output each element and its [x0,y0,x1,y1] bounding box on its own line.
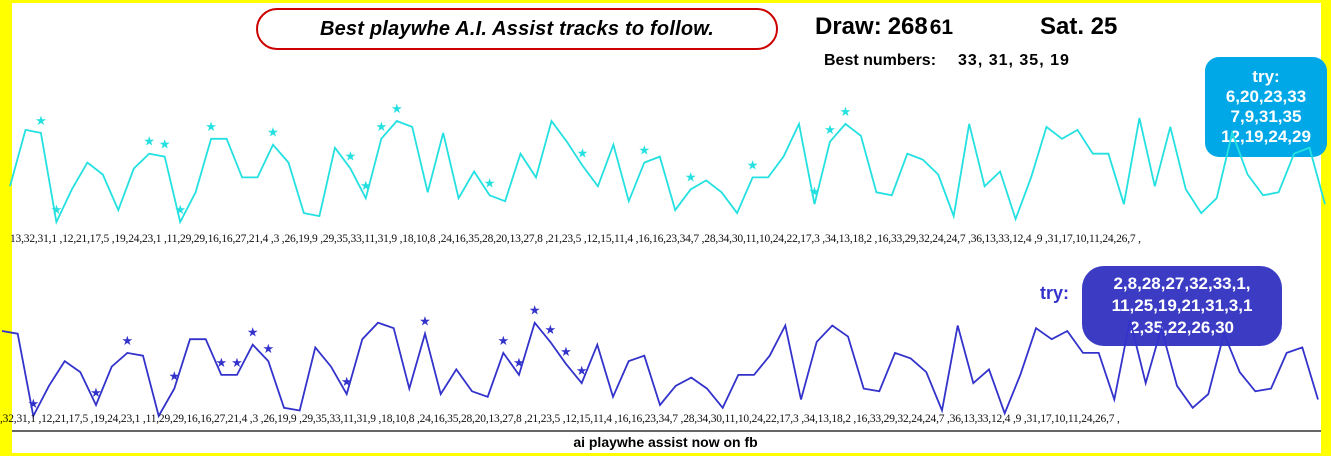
star-marker-icon: ★ [513,356,525,371]
star-marker-icon: ★ [143,135,155,150]
star-marker-icon: ★ [747,158,759,173]
try-cyan-heading: try: [1252,67,1279,87]
star-marker-icon: ★ [419,315,431,330]
draw-info: Draw:26861 [815,13,953,41]
best-numbers-row: Best numbers:33, 31, 35, 19 [824,52,1070,70]
footer-divider [12,430,1321,432]
star-marker-icon: ★ [824,123,836,138]
star-marker-icon: ★ [35,114,47,129]
star-marker-icon: ★ [809,185,821,200]
star-marker-icon: ★ [231,356,243,371]
star-marker-icon: ★ [638,144,650,159]
star-marker-icon: ★ [360,179,372,194]
star-marker-icon: ★ [840,105,852,120]
star-marker-icon: ★ [215,356,227,371]
title-banner: Best playwhe A.I. Assist tracks to follo… [256,8,778,50]
star-marker-icon: ★ [168,370,180,385]
star-marker-icon: ★ [484,176,496,191]
star-marker-icon: ★ [159,138,171,153]
star-marker-icon: ★ [90,386,102,401]
star-marker-icon: ★ [576,364,588,379]
draw-day: Sat. 25 [1040,13,1117,41]
chart-cyan-tick-labels: 13,32,31,1 ,12,21,17,5 ,19,24,23,1 ,11,2… [10,233,1141,245]
star-marker-icon: ★ [391,102,403,117]
track-line [2,320,1318,416]
star-marker-icon: ★ [341,375,353,390]
chart-cyan-track: ★★★★★★★★★★★★★★★★★★★ [0,100,1331,230]
star-marker-icon: ★ [685,170,697,185]
draw-label: Draw: [815,13,882,40]
draw-sub-number: 61 [930,16,953,39]
star-marker-icon: ★ [27,397,39,412]
star-marker-icon: ★ [375,120,387,135]
page-title: Best playwhe A.I. Assist tracks to follo… [320,18,714,41]
draw-number: 268 [888,13,928,40]
stage: Best playwhe A.I. Assist tracks to follo… [0,0,1331,456]
star-marker-icon: ★ [205,120,217,135]
star-marker-icon: ★ [544,323,556,338]
star-marker-icon: ★ [560,345,572,360]
try-blue-line-1: 2,8,28,27,32,33,1, [1113,273,1250,295]
star-marker-icon: ★ [262,342,274,357]
star-marker-icon: ★ [529,304,541,319]
chart-blue-tick-labels: ,32,31,1 ,12,21,17,5 ,19,24,23,1 ,11,29,… [0,413,1120,425]
star-marker-icon: ★ [247,326,259,341]
star-marker-icon: ★ [121,334,133,349]
best-numbers-label: Best numbers: [824,52,936,69]
chart-blue-track: ★★★★★★★★★★★★★★★★ [0,300,1331,425]
star-marker-icon: ★ [174,203,186,218]
footer-text: ai playwhe assist now on fb [0,434,1331,450]
star-marker-icon: ★ [577,147,589,162]
star-marker-icon: ★ [497,334,509,349]
star-marker-icon: ★ [267,126,279,141]
star-marker-icon: ★ [345,150,357,165]
best-numbers-values: 33, 31, 35, 19 [958,52,1070,69]
star-marker-icon: ★ [51,203,63,218]
